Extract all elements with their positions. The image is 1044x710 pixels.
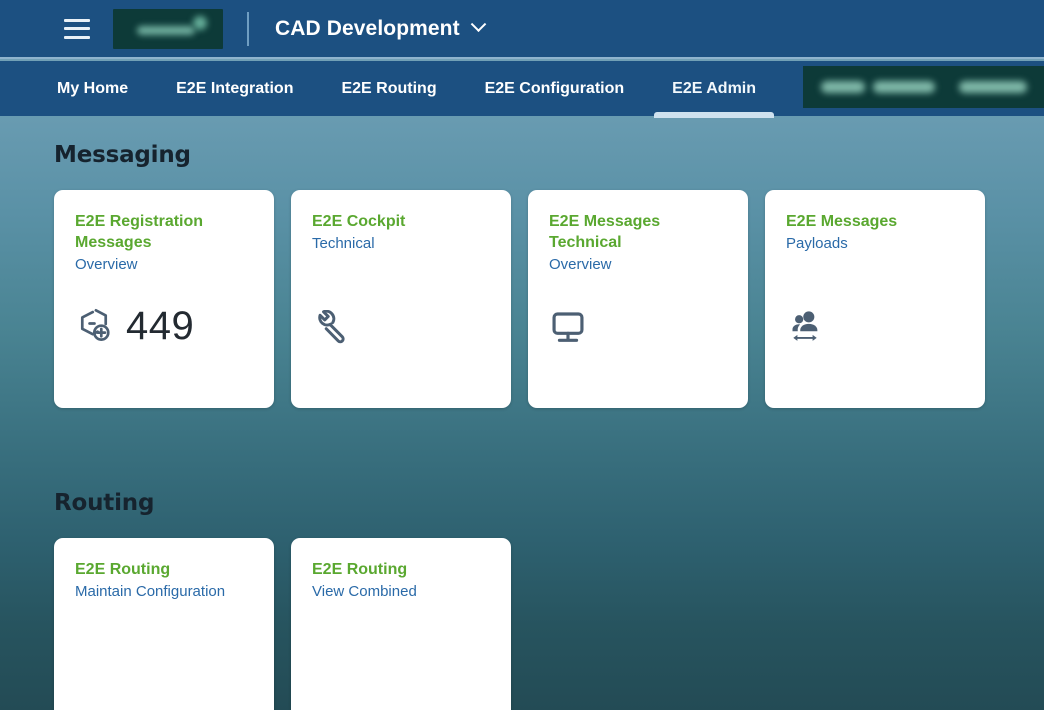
tile-title: E2E Messages Technical: [549, 212, 728, 254]
group-messaging: Messaging E2E Registration Messages Over…: [0, 142, 1044, 408]
tile-e2e-registration-messages[interactable]: E2E Registration Messages Overview 449: [54, 190, 274, 408]
tile-subtitle: Overview: [75, 255, 254, 275]
nav-tab-e2e-admin[interactable]: E2E Admin: [648, 61, 780, 116]
tile-title: E2E Routing: [312, 560, 491, 581]
tile-count: 449: [126, 306, 194, 346]
wrench-icon: [312, 310, 348, 346]
hamburger-bar: [64, 27, 90, 30]
header-divider: [247, 12, 249, 46]
chevron-down-icon[interactable]: [470, 16, 486, 32]
tile-body: 449: [75, 306, 254, 390]
tile-subtitle: Maintain Configuration: [75, 582, 254, 602]
tile-subtitle: Overview: [549, 255, 728, 275]
company-logo[interactable]: [113, 9, 223, 49]
tile-title: E2E Cockpit: [312, 212, 491, 233]
launchpad-content: Messaging E2E Registration Messages Over…: [0, 116, 1044, 710]
tile-subtitle: Technical: [312, 234, 491, 254]
group-title-messaging: Messaging: [54, 142, 1044, 168]
users-exchange-icon: [786, 308, 824, 346]
tile-title: E2E Registration Messages: [75, 212, 254, 254]
tile-row-routing: E2E Routing Maintain Configuration E2E R…: [54, 538, 1044, 710]
tile-title: E2E Messages: [786, 212, 965, 233]
group-title-routing: Routing: [54, 490, 1044, 516]
monitor-icon: [549, 308, 587, 346]
tile-e2e-cockpit[interactable]: E2E Cockpit Technical: [291, 190, 511, 408]
tile-e2e-routing-view-combined[interactable]: E2E Routing View Combined: [291, 538, 511, 710]
tile-subtitle: View Combined: [312, 582, 491, 602]
app-title-dropdown[interactable]: CAD Development: [275, 17, 484, 41]
main-navigation-bar: My Home E2E Integration E2E Routing E2E …: [0, 61, 1044, 116]
nav-redacted-badges[interactable]: [803, 66, 1044, 108]
top-header-bar: CAD Development: [0, 0, 1044, 59]
hamburger-bar: [64, 19, 90, 22]
tile-e2e-routing-maintain-configuration[interactable]: E2E Routing Maintain Configuration: [54, 538, 274, 710]
nav-tab-e2e-routing[interactable]: E2E Routing: [317, 61, 460, 116]
tile-subtitle: Payloads: [786, 234, 965, 254]
logo-mark-redacted: [193, 16, 207, 30]
nav-tab-e2e-configuration[interactable]: E2E Configuration: [461, 61, 649, 116]
tile-e2e-messages-payloads[interactable]: E2E Messages Payloads: [765, 190, 985, 408]
logo-wordmark-redacted: [137, 26, 195, 35]
page-title: CAD Development: [275, 17, 460, 41]
launchpad-page: CAD Development My Home E2E Integration …: [0, 0, 1044, 710]
tile-body: [549, 308, 728, 390]
add-object-icon: [75, 307, 113, 345]
hamburger-bar: [64, 36, 90, 39]
tile-e2e-messages-technical[interactable]: E2E Messages Technical Overview: [528, 190, 748, 408]
redacted-badge-part: [873, 81, 935, 93]
nav-tab-my-home[interactable]: My Home: [33, 61, 152, 116]
tile-body: [786, 308, 965, 390]
hamburger-menu-icon[interactable]: [64, 19, 90, 39]
tile-title: E2E Routing: [75, 560, 254, 581]
redacted-badge-part: [959, 81, 1027, 93]
group-routing: Routing E2E Routing Maintain Configurati…: [0, 490, 1044, 710]
tile-row-messaging: E2E Registration Messages Overview 449: [54, 190, 1044, 408]
tile-body: [312, 310, 491, 390]
redacted-badge-part: [821, 81, 865, 93]
nav-tab-e2e-integration[interactable]: E2E Integration: [152, 61, 317, 116]
